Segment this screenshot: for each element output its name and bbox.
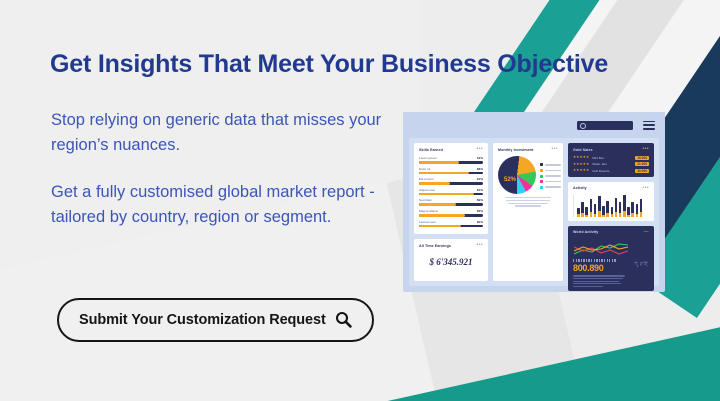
card-header: Skills Earned ••• xyxy=(419,147,483,152)
skill-progress-bar xyxy=(419,193,483,196)
pie-legend xyxy=(540,161,561,188)
rating-stars: ★★★★★ xyxy=(573,163,589,166)
world-activity-card: World Activity — xyxy=(568,226,654,291)
card-menu-icon[interactable]: ••• xyxy=(643,186,649,191)
monthly-investment-card: Monthly Investment ••• 52% xyxy=(493,143,563,281)
card-menu-icon[interactable]: ••• xyxy=(552,147,558,152)
bar-column xyxy=(598,196,601,217)
bar-column xyxy=(606,201,609,217)
rating-stars: ★★★★★ xyxy=(573,156,589,159)
page-title: Get Insights That Meet Your Business Obj… xyxy=(50,50,608,79)
bar-column xyxy=(615,198,618,217)
skill-progress-bar xyxy=(419,203,483,206)
legend-item xyxy=(540,175,561,178)
card-header: Activity ••• xyxy=(573,186,649,191)
card-title: Skills Earned xyxy=(419,148,443,152)
skill-row: Lorem ipsum94% xyxy=(419,156,483,164)
skill-row: Aliquet erat84% xyxy=(419,188,483,196)
dashboard-column-left: Skills Earned ••• Lorem ipsum94%Dolor si… xyxy=(414,143,488,281)
item-name: Water Jars xyxy=(592,162,632,166)
world-map xyxy=(633,241,649,287)
activity-card: Activity ••• xyxy=(568,182,654,221)
skill-name: Sed diam xyxy=(419,198,432,202)
skill-row: Laoreet sed90% xyxy=(419,220,483,228)
skill-progress-bar xyxy=(419,161,483,164)
card-header: Gold Sales ••• xyxy=(573,147,649,152)
bar-column xyxy=(577,208,580,217)
card-header: Monthly Investment ••• xyxy=(498,147,558,152)
item-value: 30.000 xyxy=(635,169,649,173)
paragraph-2: Get a fully customised global market rep… xyxy=(51,180,391,230)
skill-name: Dolor sit xyxy=(419,167,430,171)
skill-value: 90% xyxy=(477,220,483,224)
skill-row: Magna aliqua96% xyxy=(419,209,483,217)
bar-column xyxy=(627,207,630,217)
gold-sales-list: ★★★★★Mint Bar10.000★★★★★Water Jars21.000… xyxy=(573,156,649,173)
line-chart-svg xyxy=(573,241,629,258)
card-caption xyxy=(498,197,558,207)
skills-earned-card: Skills Earned ••• Lorem ipsum94%Dolor si… xyxy=(414,143,488,234)
world-line-chart xyxy=(573,241,629,258)
paragraph-1: Stop relying on generic data that misses… xyxy=(51,108,391,158)
item-name: Mint Bar xyxy=(592,156,632,160)
gold-sales-row: ★★★★★Gulf Deserts30.000 xyxy=(573,169,649,173)
skill-name: Magna aliqua xyxy=(419,209,438,213)
skill-name: Lorem ipsum xyxy=(419,156,437,160)
hamburger-icon[interactable] xyxy=(643,121,655,130)
dashboard-column-middle: Monthly Investment ••• 52% xyxy=(493,143,563,281)
bar-column xyxy=(581,202,584,216)
cta-label: Submit Your Customization Request xyxy=(79,312,326,328)
pie-highlight-label: 52% xyxy=(504,177,516,183)
item-name: Gulf Deserts xyxy=(592,169,632,173)
search-input[interactable] xyxy=(577,121,633,130)
bar-column xyxy=(585,207,588,217)
bar-column xyxy=(640,199,643,217)
legend-item xyxy=(540,186,561,189)
item-value: 10.000 xyxy=(635,156,649,160)
skill-name: Laoreet sed xyxy=(419,220,435,224)
skills-list: Lorem ipsum94%Dolor sit88%Elit tempor91%… xyxy=(419,156,483,227)
earnings-value: $ 6'345.921 xyxy=(419,257,483,267)
card-header: All Time Earnings ••• xyxy=(419,243,483,248)
pie-chart-area: 52% xyxy=(498,156,558,194)
line-chart-axis xyxy=(573,259,629,262)
card-title: Gold Sales xyxy=(573,148,593,152)
gold-sales-row: ★★★★★Water Jars21.000 xyxy=(573,162,649,166)
skill-progress-bar xyxy=(419,214,483,217)
bar-column xyxy=(594,204,597,216)
skill-value: 91% xyxy=(477,177,483,181)
skill-value: 88% xyxy=(477,167,483,171)
gold-sales-row: ★★★★★Mint Bar10.000 xyxy=(573,156,649,160)
bar-column xyxy=(631,202,634,217)
search-icon xyxy=(335,311,352,328)
dashboard-topbar xyxy=(403,112,665,138)
world-activity-caption xyxy=(573,275,629,287)
skill-progress-bar xyxy=(419,172,483,175)
bar-column xyxy=(602,206,605,217)
dashboard-column-right: Gold Sales ••• ★★★★★Mint Bar10.000★★★★★W… xyxy=(568,143,654,281)
submit-customization-request-button[interactable]: Submit Your Customization Request xyxy=(57,298,374,342)
gold-sales-card: Gold Sales ••• ★★★★★Mint Bar10.000★★★★★W… xyxy=(568,143,654,177)
world-map-svg xyxy=(633,241,649,287)
skill-value: 96% xyxy=(477,209,483,213)
legend-item xyxy=(540,163,561,166)
skill-row: Sed diam89% xyxy=(419,198,483,206)
skill-name: Elit tempor xyxy=(419,177,434,181)
world-activity-stats: 800.890 xyxy=(573,241,629,287)
dashboard-mockup: Skills Earned ••• Lorem ipsum94%Dolor si… xyxy=(403,112,665,292)
card-menu-icon[interactable]: — xyxy=(644,230,649,235)
card-title: Monthly Investment xyxy=(498,148,534,152)
skill-value: 84% xyxy=(477,188,483,192)
card-menu-icon[interactable]: ••• xyxy=(477,243,483,248)
activity-bar-chart xyxy=(573,195,649,217)
dashboard-body: Skills Earned ••• Lorem ipsum94%Dolor si… xyxy=(409,138,659,286)
bar-column xyxy=(623,195,626,217)
item-value: 21.000 xyxy=(635,162,649,166)
pie-chart: 52% xyxy=(498,156,536,194)
world-activity-body: 800.890 xyxy=(573,241,649,287)
card-title: Activity xyxy=(573,186,587,190)
skill-name: Aliquet erat xyxy=(419,188,435,192)
bar-column xyxy=(611,207,614,217)
bar-column xyxy=(590,199,593,217)
card-menu-icon[interactable]: ••• xyxy=(643,147,649,152)
card-title: World Activity xyxy=(573,230,598,234)
skill-progress-bar xyxy=(419,182,483,185)
skill-value: 89% xyxy=(477,198,483,202)
promo-banner: Get Insights That Meet Your Business Obj… xyxy=(0,0,720,401)
body-copy: Stop relying on generic data that misses… xyxy=(51,108,391,230)
legend-item xyxy=(540,169,561,172)
skill-row: Elit tempor91% xyxy=(419,177,483,185)
card-header: World Activity — xyxy=(573,230,649,235)
skill-value: 94% xyxy=(477,156,483,160)
world-activity-value: 800.890 xyxy=(573,264,629,273)
bar-column xyxy=(619,202,622,216)
all-time-earnings-card: All Time Earnings ••• $ 6'345.921 xyxy=(414,239,488,281)
skill-row: Dolor sit88% xyxy=(419,167,483,175)
card-menu-icon[interactable]: ••• xyxy=(477,147,483,152)
skill-progress-bar xyxy=(419,225,483,228)
card-title: All Time Earnings xyxy=(419,244,451,248)
legend-item xyxy=(540,180,561,183)
rating-stars: ★★★★★ xyxy=(573,169,589,172)
bar-column xyxy=(636,204,639,216)
